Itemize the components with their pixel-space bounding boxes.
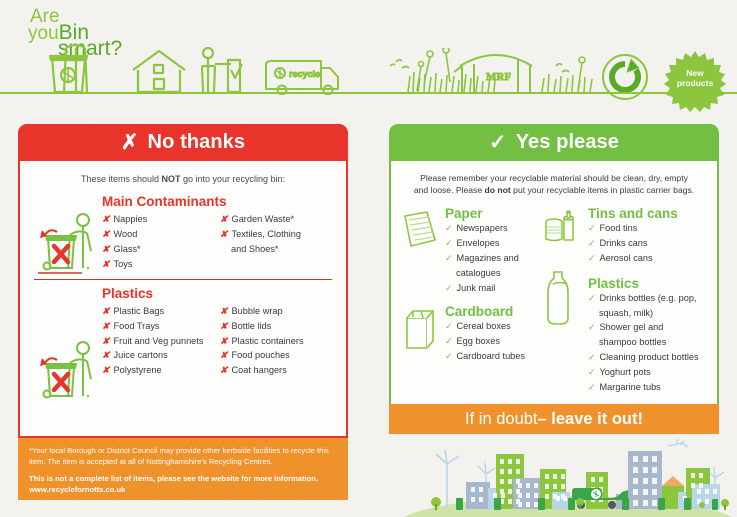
list-item-label: Plastic Bags [114,306,165,316]
cross-bullet-icon: ✘ [102,306,110,316]
list-item-label: Food pouches [232,350,290,360]
list-item-label: Margarine tubs [600,382,661,392]
check-bullet-icon: ✓ [588,253,596,263]
list-item: ✓Cardboard tubes [445,349,566,364]
truck-label: recycle [289,69,320,79]
list-item-label: Newspapers [457,223,508,233]
yes-intro-after: put your recyclable items in plastic car… [511,185,694,195]
cross-bullet-icon: ✘ [220,365,228,375]
list-item: ✘Food pouches [220,348,304,363]
list-item-label: Polystyrene [114,365,162,375]
list-item: squash, milk) [588,306,717,321]
list-item-label: Fruit and Veg punnets [114,336,204,346]
list-item: ✘Polystyrene [102,363,220,378]
yes-please-title: Yes please [516,131,619,154]
plastics-col-left: ✘Plastic Bags ✘Food Trays ✘Fruit and Veg… [102,304,220,379]
list-item-label: and Shoes* [220,242,279,257]
list-item: ✘Garden Waste* [220,212,301,227]
cross-bullet-icon: ✘ [220,350,228,360]
contaminants-col-left: ✘Nappies ✘Wood ✘Glass* ✘Toys [102,212,220,272]
list-item-label: Cleaning product bottles [600,352,699,362]
list-item-label: Yoghurt pots [600,367,651,377]
list-item-label: Toys [114,259,133,269]
list-item: ✘Toys [102,257,220,272]
list-item-label: Food tins [600,223,638,233]
ground-line [0,92,737,94]
list-item-label: Nappies [114,214,148,224]
list-item: ✘Juice cartons [102,348,220,363]
check-bullet-icon: ✓ [445,321,453,331]
check-bullet-icon: ✓ [445,336,453,346]
list-item: ✓Food tins [588,221,717,236]
yes-column-right: Tins and cans ✓Food tins ✓Drinks cans ✓A… [566,206,717,395]
badge-label: New products [664,68,726,88]
recycling-truck-icon: recycle [262,55,346,95]
footnote-block: *Your local Borough or District Council … [18,438,348,500]
check-bullet-icon: ✓ [588,223,596,233]
list-item: ✘Plastic containers [220,334,304,349]
check-bullet-icon: ✓ [588,382,596,392]
check-bullet-icon: ✓ [588,322,596,332]
list-item: ✘Plastic Bags [102,304,220,319]
doubt-text-before: If in doubt [465,410,537,429]
list-item-label: Food Trays [114,321,160,331]
no-thanks-intro: These items should NOT go into your recy… [20,161,346,185]
plastic-bottle-icon [540,268,580,330]
list-item-label: Junk mail [457,283,496,293]
cross-bullet-icon: ✘ [102,214,110,224]
footnote-paragraph-1: *Your local Borough or District Council … [29,445,338,467]
section-title-main-contaminants: Main Contaminants [102,194,346,209]
cross-bullet-icon: ✘ [220,336,228,346]
list-item: ✓Egg boxes [445,334,566,349]
list-item: ✘Coat hangers [220,363,304,378]
list-item-label: Bubble wrap [232,306,283,316]
person-sorting-icon [198,46,250,94]
list-item-label: Plastic containers [232,336,304,346]
if-in-doubt-banner: If in doubt – leave it out! [389,404,719,434]
cross-bullet-icon: ✘ [220,214,228,224]
footnote-line-3: This is not a complete list of items, pl… [29,474,318,483]
list-item-label: squash, milk) [588,306,653,321]
tins-cans-icon [542,208,582,248]
list-item-label: Drinks bottles (e.g. pop, [600,293,697,303]
list-item-label: Bottle lids [232,321,272,331]
cross-bullet-icon: ✘ [102,365,110,375]
list-item-label: Coat hangers [232,365,287,375]
list-item: ✘Glass* [102,242,220,257]
list-item: ✘Nappies [102,212,220,227]
list-item: ✓Shower gel and [588,320,717,335]
footnote-line-1: *Your local Borough or District Council … [29,446,289,455]
header: Are youBin smart? [0,0,737,112]
cross-bullet-icon: ✘ [102,244,110,254]
list-item-label: Juice cartons [114,350,168,360]
check-bullet-icon: ✓ [445,238,453,248]
section-title-plastics-accepted: Plastics [588,276,717,291]
list-item: ✓Magazines and [445,251,566,266]
website-url[interactable]: www.recyclefornotts.co.uk [29,485,125,494]
cross-icon: ✗ [121,130,139,155]
list-item: ✓Aerosol cans [588,251,717,266]
plastics-accept-section: Plastics ✓Drinks bottles (e.g. pop, squa… [566,276,717,395]
tins-section: Tins and cans ✓Food tins ✓Drinks cans ✓A… [566,206,717,266]
list-item-label: Aerosol cans [600,253,653,263]
list-item-label: catalogues [445,266,500,281]
cross-bullet-icon: ✘ [220,306,228,316]
list-item-label: Envelopes [457,238,500,248]
list-item: ✓Cleaning product bottles [588,350,717,365]
cross-bullet-icon: ✘ [102,350,110,360]
list-item: and Shoes* [220,242,301,257]
mrf-label: MRF [486,71,511,83]
list-item-label: Glass* [114,244,141,254]
list-item-label: Drinks cans [600,238,648,248]
list-item: ✘Wood [102,227,220,242]
list-item: ✘Textiles, Clothing [220,227,301,242]
check-bullet-icon: ✓ [588,293,596,303]
check-bullet-icon: ✓ [588,238,596,248]
list-item: ✘Fruit and Veg punnets [102,334,220,349]
badge-line-2: products [677,78,713,88]
bin-reject-icon-2 [36,341,100,411]
list-item-label: Textiles, Clothing [232,229,301,239]
aeroplane-icon [668,439,688,447]
person-with-bin-icon [30,38,140,96]
house-icon [128,48,190,94]
list-item-label: Cereal boxes [457,321,511,331]
check-bullet-icon: ✓ [445,283,453,293]
check-bullet-icon: ✓ [588,352,596,362]
yes-please-intro: Please remember your recyclable material… [391,161,717,197]
recycle-arrow-icon [598,53,652,105]
bin-reject-icon [36,213,100,283]
plastics-col-right: ✘Bubble wrap ✘Bottle lids ✘Plastic conta… [220,304,304,379]
list-item: ✓Yoghurt pots [588,365,717,380]
section-title-tins-and-cans: Tins and cans [588,206,717,221]
cityscape-illustration [400,436,737,517]
footnote-paragraph-2: This is not a complete list of items, pl… [29,473,338,495]
list-item-label: Egg boxes [457,336,500,346]
list-item-label: Magazines and [457,253,519,263]
cross-bullet-icon: ✘ [102,259,110,269]
no-thanks-body: These items should NOT go into your recy… [18,161,348,438]
no-thanks-header: ✗ No thanks [18,124,348,161]
paper-stack-icon [401,210,439,252]
list-item: ✓Margarine tubs [588,380,717,395]
list-item: ✘Bubble wrap [220,304,304,319]
intro-text-bold: NOT [161,174,180,184]
check-bullet-icon: ✓ [445,223,453,233]
list-item-label: Wood [114,229,138,239]
yes-intro-bold: do not [485,185,511,195]
yes-please-header: ✓ Yes please [389,124,719,161]
cross-bullet-icon: ✘ [220,229,228,239]
intro-text-before: These items should [81,174,162,184]
list-item: ✘Bottle lids [220,319,304,334]
badge-line-1: New [686,68,703,78]
yes-please-panel: ✓ Yes please Please remember your recycl… [389,124,719,432]
mrf-building-icon: MRF [452,44,548,94]
no-thanks-panel: ✗ No thanks These items should NOT go in… [18,124,348,438]
contaminants-col-right: ✘Garden Waste* ✘Textiles, Clothing and S… [220,212,301,272]
list-item-label: Shower gel and [600,322,664,332]
yes-please-body: Please remember your recyclable material… [389,161,719,432]
doubt-text-bold: – leave it out! [538,410,643,429]
list-item-label: Garden Waste* [232,214,294,224]
cross-bullet-icon: ✘ [102,336,110,346]
cross-bullet-icon: ✘ [102,229,110,239]
list-item: ✘Food Trays [102,319,220,334]
new-products-badge: New products [664,50,726,112]
list-item-label: shampoo bottles [588,335,666,350]
cardboard-box-icon [401,306,441,354]
cross-bullet-icon: ✘ [220,321,228,331]
check-bullet-icon: ✓ [588,367,596,377]
section-title-plastics: Plastics [102,286,346,301]
check-bullet-icon: ✓ [445,351,453,361]
check-icon: ✓ [489,130,507,155]
cross-bullet-icon: ✘ [102,321,110,331]
check-bullet-icon: ✓ [445,253,453,263]
list-item: ✓Drinks cans [588,236,717,251]
no-thanks-title: No thanks [148,131,246,154]
intro-text-after: go into your recycling bin: [180,174,285,184]
list-item: ✓Drinks bottles (e.g. pop, [588,291,717,306]
list-item-label: Cardboard tubes [457,351,525,361]
list-item: shampoo bottles [588,335,717,350]
